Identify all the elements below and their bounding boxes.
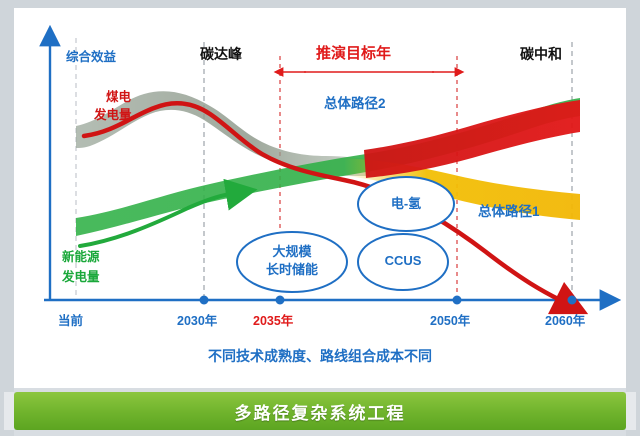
bubble-storage-label-1: 大规模 bbox=[242, 244, 342, 260]
bubble-ccus-label: CCUS bbox=[358, 253, 448, 269]
x-tick-2050: 2050年 bbox=[430, 310, 470, 329]
chart-canvas: 综合效益 煤电 发电量 新能源 发电量 碳达峰 推演目标年 碳中和 总体路径2 … bbox=[14, 8, 626, 388]
screenshot-root: 综合效益 煤电 发电量 新能源 发电量 碳达峰 推演目标年 碳中和 总体路径2 … bbox=[0, 0, 640, 436]
banner-left-cap bbox=[4, 392, 14, 430]
x-tick-current: 当前 bbox=[58, 310, 83, 329]
bubble-storage-label-2: 长时储能 bbox=[242, 262, 342, 278]
coal-label-line2: 发电量 bbox=[94, 104, 132, 123]
x-tick-2030: 2030年 bbox=[177, 310, 217, 329]
x-tick-2035: 2035年 bbox=[253, 310, 293, 329]
x-tick-2060: 2060年 bbox=[545, 310, 585, 329]
chart-caption: 不同技术成熟度、路线组合成本不同 bbox=[14, 346, 626, 366]
frame-right-border bbox=[626, 0, 640, 436]
series-path2-band bbox=[364, 100, 580, 178]
coal-label-line1: 煤电 bbox=[106, 86, 131, 105]
frame-left-border bbox=[0, 0, 14, 436]
carbon-neutral-label: 碳中和 bbox=[520, 44, 562, 64]
y-axis-label: 综合效益 bbox=[66, 46, 116, 65]
renewable-label-line1: 新能源 bbox=[62, 246, 100, 265]
frame-top-border bbox=[0, 0, 640, 8]
roadmap-chart bbox=[14, 8, 626, 388]
bubble-hydrogen-label: 电-氢 bbox=[366, 196, 446, 212]
bottom-banner: 多路径复杂系统工程 bbox=[14, 392, 626, 430]
banner-right-cap bbox=[626, 392, 636, 430]
carbon-peak-label: 碳达峰 bbox=[200, 44, 242, 64]
renewable-label-line2: 发电量 bbox=[62, 266, 100, 285]
path2-label: 总体路径2 bbox=[324, 92, 386, 112]
path1-label: 总体路径1 bbox=[478, 200, 540, 220]
banner-title: 多路径复杂系统工程 bbox=[235, 399, 406, 424]
target-year-label: 推演目标年 bbox=[316, 42, 391, 63]
